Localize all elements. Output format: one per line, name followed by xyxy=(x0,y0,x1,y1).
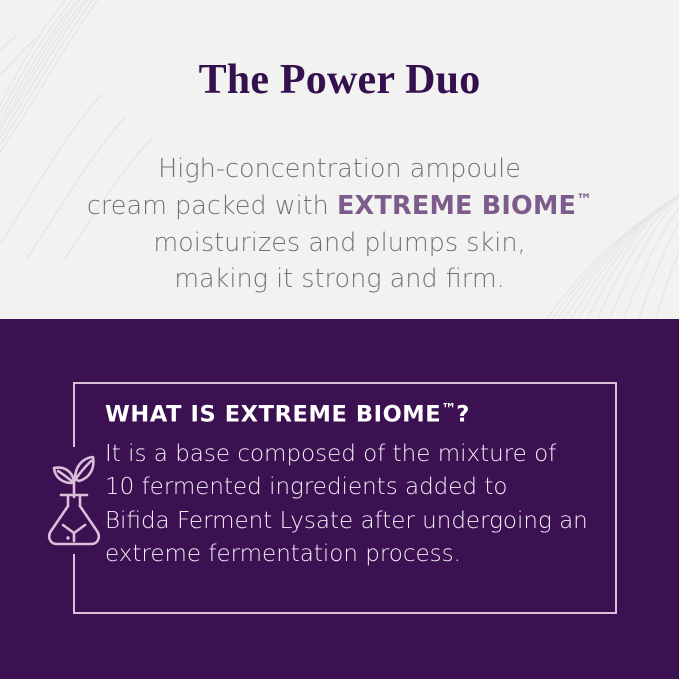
brand-emphasis: EXTREME BIOME xyxy=(337,191,576,221)
page-title: The Power Duo xyxy=(199,58,481,102)
trademark-symbol: ™ xyxy=(441,400,456,418)
callout-border-top xyxy=(73,382,617,384)
callout-body-line: Bifida Ferment Lysate after undergoing a… xyxy=(105,505,607,539)
bottom-panel: WHAT IS EXTREME BIOME™? It is a base com… xyxy=(0,319,679,679)
callout-border-left-upper xyxy=(73,382,75,447)
flask-sprout-icon xyxy=(41,449,107,549)
subtitle: High-concentration ampoule cream packed … xyxy=(87,151,592,298)
top-content: The Power Duo High-concentration ampoule… xyxy=(0,0,679,319)
subtitle-line-text: cream packed with xyxy=(87,191,337,221)
callout-body-line: extreme fermentation process. xyxy=(105,538,607,572)
callout-title: WHAT IS EXTREME BIOME™? xyxy=(105,400,607,428)
callout-title-suffix: ? xyxy=(456,402,470,428)
callout-border-right xyxy=(615,382,617,614)
subtitle-line: moisturizes and plumps skin, xyxy=(87,225,592,262)
subtitle-line: High-concentration ampoule xyxy=(87,151,592,188)
callout-border-bottom xyxy=(73,612,617,614)
callout-title-text: WHAT IS EXTREME BIOME xyxy=(105,402,441,428)
subtitle-line: cream packed with EXTREME BIOME™ xyxy=(87,188,592,225)
trademark-symbol: ™ xyxy=(576,190,592,209)
subtitle-line-text: making it strong and firm. xyxy=(174,264,505,294)
subtitle-line-text: High-concentration ampoule xyxy=(158,154,521,184)
callout-body-line: 10 fermented ingredients added to xyxy=(105,471,607,505)
callout-body-line: It is a base composed of the mixture of xyxy=(105,438,607,472)
callout-border-left-lower xyxy=(73,554,75,614)
top-panel: The Power Duo High-concentration ampoule… xyxy=(0,0,679,319)
infographic-page: The Power Duo High-concentration ampoule… xyxy=(0,0,679,679)
callout-box: WHAT IS EXTREME BIOME™? It is a base com… xyxy=(73,382,617,614)
subtitle-line-text: moisturizes and plumps skin, xyxy=(153,228,525,258)
subtitle-line: making it strong and firm. xyxy=(87,261,592,298)
callout-text: WHAT IS EXTREME BIOME™? It is a base com… xyxy=(105,400,607,572)
callout-body: It is a base composed of the mixture of … xyxy=(105,438,607,572)
